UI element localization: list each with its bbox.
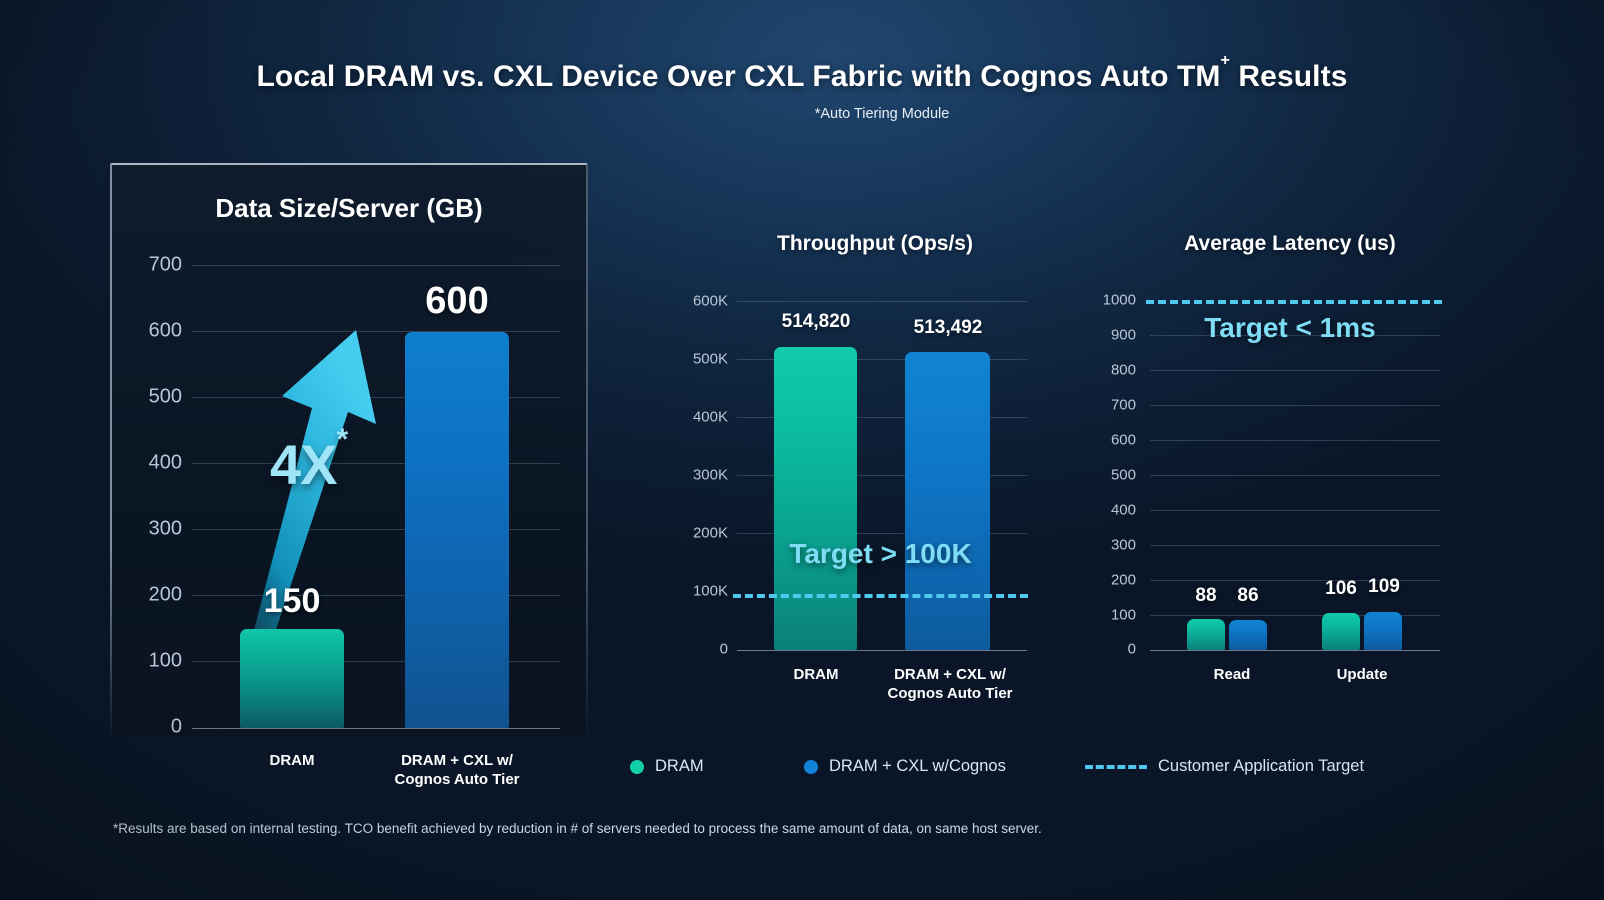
chart2-value-label-dram-cxl: 513,492 xyxy=(887,317,1009,339)
chart1-bar-dram-cxl[interactable] xyxy=(405,332,509,728)
chart3-ytick-600: 600 xyxy=(1090,432,1136,449)
page-title-superscript: + xyxy=(1221,52,1230,69)
slide-canvas: Local DRAM vs. CXL Device Over CXL Fabri… xyxy=(0,0,1604,900)
chart3-gridline xyxy=(1150,545,1440,546)
legend-item-dram-cxl[interactable]: DRAM + CXL w/Cognos xyxy=(804,757,1006,776)
footnote: *Results are based on internal testing. … xyxy=(113,821,1042,836)
chart1-gridline xyxy=(192,265,560,266)
growth-multiplier-label: 4X* xyxy=(270,432,390,497)
chart1-value-label-dram-cxl: 600 xyxy=(397,280,517,323)
chart2-target-line xyxy=(733,594,1028,598)
chart2-value-label-dram: 514,820 xyxy=(755,311,877,333)
chart3-gridline xyxy=(1150,370,1440,371)
chart1-ytick-200: 200 xyxy=(130,584,182,607)
chart1-value-label-dram: 150 xyxy=(232,582,352,621)
page-title-main: Local DRAM vs. CXL Device Over CXL Fabri… xyxy=(256,60,1220,93)
chart3-target-label: Target < 1ms xyxy=(1165,312,1415,344)
chart-title-latency: Average Latency (us) xyxy=(1115,232,1465,256)
page-title-tail: Results xyxy=(1230,60,1348,93)
chart3-value-label-update-cxl: 109 xyxy=(1357,576,1411,598)
legend-label-dram-cxl: DRAM + CXL w/Cognos xyxy=(829,757,1006,776)
chart2-ytick-600k: 600K xyxy=(672,293,728,310)
chart3-ytick-800: 800 xyxy=(1090,362,1136,379)
legend-dot-icon-dram-cxl xyxy=(804,760,818,774)
chart2-target-label: Target > 100K xyxy=(753,538,1008,570)
chart3-ytick-0: 0 xyxy=(1090,641,1136,658)
growth-multiplier-value: 4X xyxy=(270,433,337,496)
chart3-ytick-300: 300 xyxy=(1090,537,1136,554)
chart2-bar-dram[interactable] xyxy=(774,347,857,650)
legend-dashed-line-icon xyxy=(1085,765,1147,769)
chart3-xlabel-read: Read xyxy=(1182,666,1282,685)
legend-label-dram: DRAM xyxy=(655,757,704,776)
chart3-ytick-900: 900 xyxy=(1090,327,1136,344)
chart2-xlabel-dram-cxl: DRAM + CXL w/ Cognos Auto Tier xyxy=(865,666,1035,704)
legend-item-dram[interactable]: DRAM xyxy=(630,757,704,776)
chart3-gridline xyxy=(1150,405,1440,406)
chart2-bar-dram-cxl[interactable] xyxy=(905,352,990,650)
chart3-gridline xyxy=(1150,475,1440,476)
chart3-bar-read-cxl[interactable] xyxy=(1229,620,1267,650)
chart1-ytick-300: 300 xyxy=(130,518,182,541)
legend-label-target: Customer Application Target xyxy=(1158,757,1364,776)
chart-title-throughput: Throughput (Ops/s) xyxy=(700,232,1050,256)
chart3-ytick-400: 400 xyxy=(1090,502,1136,519)
chart1-ytick-600: 600 xyxy=(130,320,182,343)
chart2-ytick-300k: 300K xyxy=(672,467,728,484)
chart3-bar-read-dram[interactable] xyxy=(1187,619,1225,650)
chart3-ytick-700: 700 xyxy=(1090,397,1136,414)
chart1-xlabel-dram-cxl: DRAM + CXL w/ Cognos Auto Tier xyxy=(367,752,547,790)
chart1-ytick-100: 100 xyxy=(130,650,182,673)
growth-multiplier-superscript: * xyxy=(337,423,348,456)
chart3-ytick-100: 100 xyxy=(1090,607,1136,624)
legend-dot-icon-dram xyxy=(630,760,644,774)
chart2-x-axis xyxy=(737,650,1027,651)
page-title: Local DRAM vs. CXL Device Over CXL Fabri… xyxy=(0,60,1604,94)
chart1-xlabel-dram-cxl-line2: Cognos Auto Tier xyxy=(367,771,547,790)
chart2-gridline xyxy=(737,301,1027,302)
page-subtitle: *Auto Tiering Module xyxy=(0,106,1604,122)
chart3-ytick-1000: 1000 xyxy=(1090,292,1136,309)
chart3-gridline xyxy=(1150,440,1440,441)
chart1-xlabel-dram-cxl-line1: DRAM + CXL w/ xyxy=(367,752,547,771)
chart3-xlabel-read-text: Read xyxy=(1182,666,1282,685)
chart2-xlabel-dram-cxl-line2: Cognos Auto Tier xyxy=(865,685,1035,704)
chart3-xlabel-update-text: Update xyxy=(1312,666,1412,685)
chart2-ytick-500k: 500K xyxy=(672,351,728,368)
chart3-x-axis xyxy=(1150,650,1440,651)
chart2-ytick-0: 0 xyxy=(672,641,728,658)
chart2-ytick-400k: 400K xyxy=(672,409,728,426)
chart2-ytick-200k: 200K xyxy=(672,525,728,542)
chart3-bar-update-cxl[interactable] xyxy=(1364,612,1402,650)
chart2-xlabel-dram: DRAM xyxy=(755,666,877,685)
chart3-ytick-200: 200 xyxy=(1090,572,1136,589)
chart3-value-label-read-cxl: 86 xyxy=(1223,585,1273,607)
chart2-xlabel-dram-cxl-line1: DRAM + CXL w/ xyxy=(865,666,1035,685)
chart3-gridline xyxy=(1150,510,1440,511)
chart1-bar-dram[interactable] xyxy=(240,629,344,728)
chart1-x-axis xyxy=(192,728,560,729)
chart2-ytick-100k: 100K xyxy=(672,583,728,600)
chart1-ytick-0: 0 xyxy=(130,716,182,739)
chart3-target-line xyxy=(1146,300,1442,304)
chart1-ytick-400: 400 xyxy=(130,452,182,475)
chart3-xlabel-update: Update xyxy=(1312,666,1412,685)
chart1-ytick-500: 500 xyxy=(130,386,182,409)
chart1-xlabel-dram: DRAM xyxy=(232,752,352,771)
chart1-ytick-700: 700 xyxy=(130,254,182,277)
chart1-xlabel-dram-line1: DRAM xyxy=(232,752,352,771)
chart3-ytick-500: 500 xyxy=(1090,467,1136,484)
legend-item-target[interactable]: Customer Application Target xyxy=(1085,757,1364,776)
growth-arrow-icon xyxy=(236,320,416,680)
chart2-xlabel-dram-line1: DRAM xyxy=(755,666,877,685)
chart3-bar-update-dram[interactable] xyxy=(1322,613,1360,650)
